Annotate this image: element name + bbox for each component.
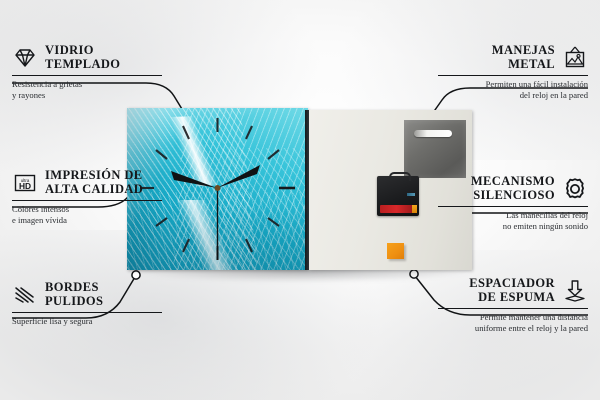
down-arrow-stack-icon bbox=[562, 278, 588, 304]
callout-desc-line2: y rayones bbox=[12, 90, 162, 101]
callout-title-line2: SILENCIOSO bbox=[471, 189, 555, 203]
callout-desc-line2: uniforme entre el reloj y la pared bbox=[438, 323, 588, 334]
callout-desc-line1: Superficie lisa y segura bbox=[12, 316, 162, 327]
callout-title-line1: VIDRIO bbox=[45, 44, 120, 58]
callout-desc-line1: Permiten una fácil instalación bbox=[438, 79, 588, 90]
callout-desc-line1: Resistencia a grietas bbox=[12, 79, 162, 90]
panel-dark-edge bbox=[305, 110, 309, 270]
callout-title-line1: IMPRESIÓN DE bbox=[45, 169, 143, 183]
callout-title-line1: MANEJAS bbox=[492, 44, 555, 58]
clock-minute-hand bbox=[217, 165, 260, 188]
callout-rule bbox=[438, 206, 588, 207]
callout-rule bbox=[438, 75, 588, 76]
callout-hd-print: ultra HD IMPRESIÓN DE ALTA CALIDAD Color… bbox=[12, 169, 162, 226]
infographic-canvas: VIDRIO TEMPLADO Resistencia a grietas y … bbox=[0, 0, 600, 400]
callout-title-line2: TEMPLADO bbox=[45, 58, 120, 72]
callout-desc-line1: Las manecillas del reloj bbox=[438, 210, 588, 221]
gear-icon bbox=[562, 176, 588, 202]
clock-center-cap bbox=[215, 185, 221, 191]
callout-title-line1: BORDES bbox=[45, 281, 103, 295]
callout-desc-line1: Permite mantener una distancia bbox=[438, 312, 588, 323]
foam-spacer bbox=[387, 243, 404, 259]
diamond-icon bbox=[12, 45, 38, 71]
clock-hour-hand bbox=[171, 171, 217, 188]
ultra-hd-icon-big-label: HD bbox=[19, 181, 31, 191]
callout-rule bbox=[12, 312, 162, 313]
ultra-hd-icon: ultra HD bbox=[12, 170, 38, 196]
callout-title-line1: MECANISMO bbox=[471, 175, 555, 189]
callout-tempered-glass: VIDRIO TEMPLADO Resistencia a grietas y … bbox=[12, 44, 162, 101]
callout-metal-handles: MANEJAS METAL Permiten una fácil instala… bbox=[438, 44, 588, 101]
callout-title-line2: METAL bbox=[492, 58, 555, 72]
callout-desc-line2: del reloj en la pared bbox=[438, 90, 588, 101]
callout-silent-mechanism: MECANISMO SILENCIOSO Las manecillas del … bbox=[438, 175, 588, 232]
callout-title-line2: DE ESPUMA bbox=[469, 291, 555, 305]
callout-rule bbox=[12, 200, 162, 201]
diagonal-lines-icon bbox=[12, 282, 38, 308]
mechanism-hook bbox=[389, 172, 411, 181]
callout-foam-spacer: ESPACIADOR DE ESPUMA Permite mantener un… bbox=[438, 277, 588, 334]
callout-desc-line1: Colores intensos bbox=[12, 204, 162, 215]
quartz-mechanism bbox=[377, 176, 419, 216]
picture-frame-hanger-icon bbox=[562, 45, 588, 71]
callout-rule bbox=[438, 308, 588, 309]
callout-title-line2: PULIDOS bbox=[45, 295, 103, 309]
mechanism-label bbox=[407, 193, 415, 196]
callout-polished-edges: BORDES PULIDOS Superficie lisa y segura bbox=[12, 281, 162, 327]
callout-desc-line2: no emiten ningún sonido bbox=[438, 221, 588, 232]
callout-rule bbox=[12, 75, 162, 76]
callout-desc-line2: e imagen vívida bbox=[12, 215, 162, 226]
battery bbox=[380, 205, 413, 213]
callout-title-line1: ESPACIADOR bbox=[469, 277, 555, 291]
callout-title-line2: ALTA CALIDAD bbox=[45, 183, 143, 197]
product-photo bbox=[127, 108, 472, 272]
metal-hanger-plate bbox=[404, 120, 466, 178]
